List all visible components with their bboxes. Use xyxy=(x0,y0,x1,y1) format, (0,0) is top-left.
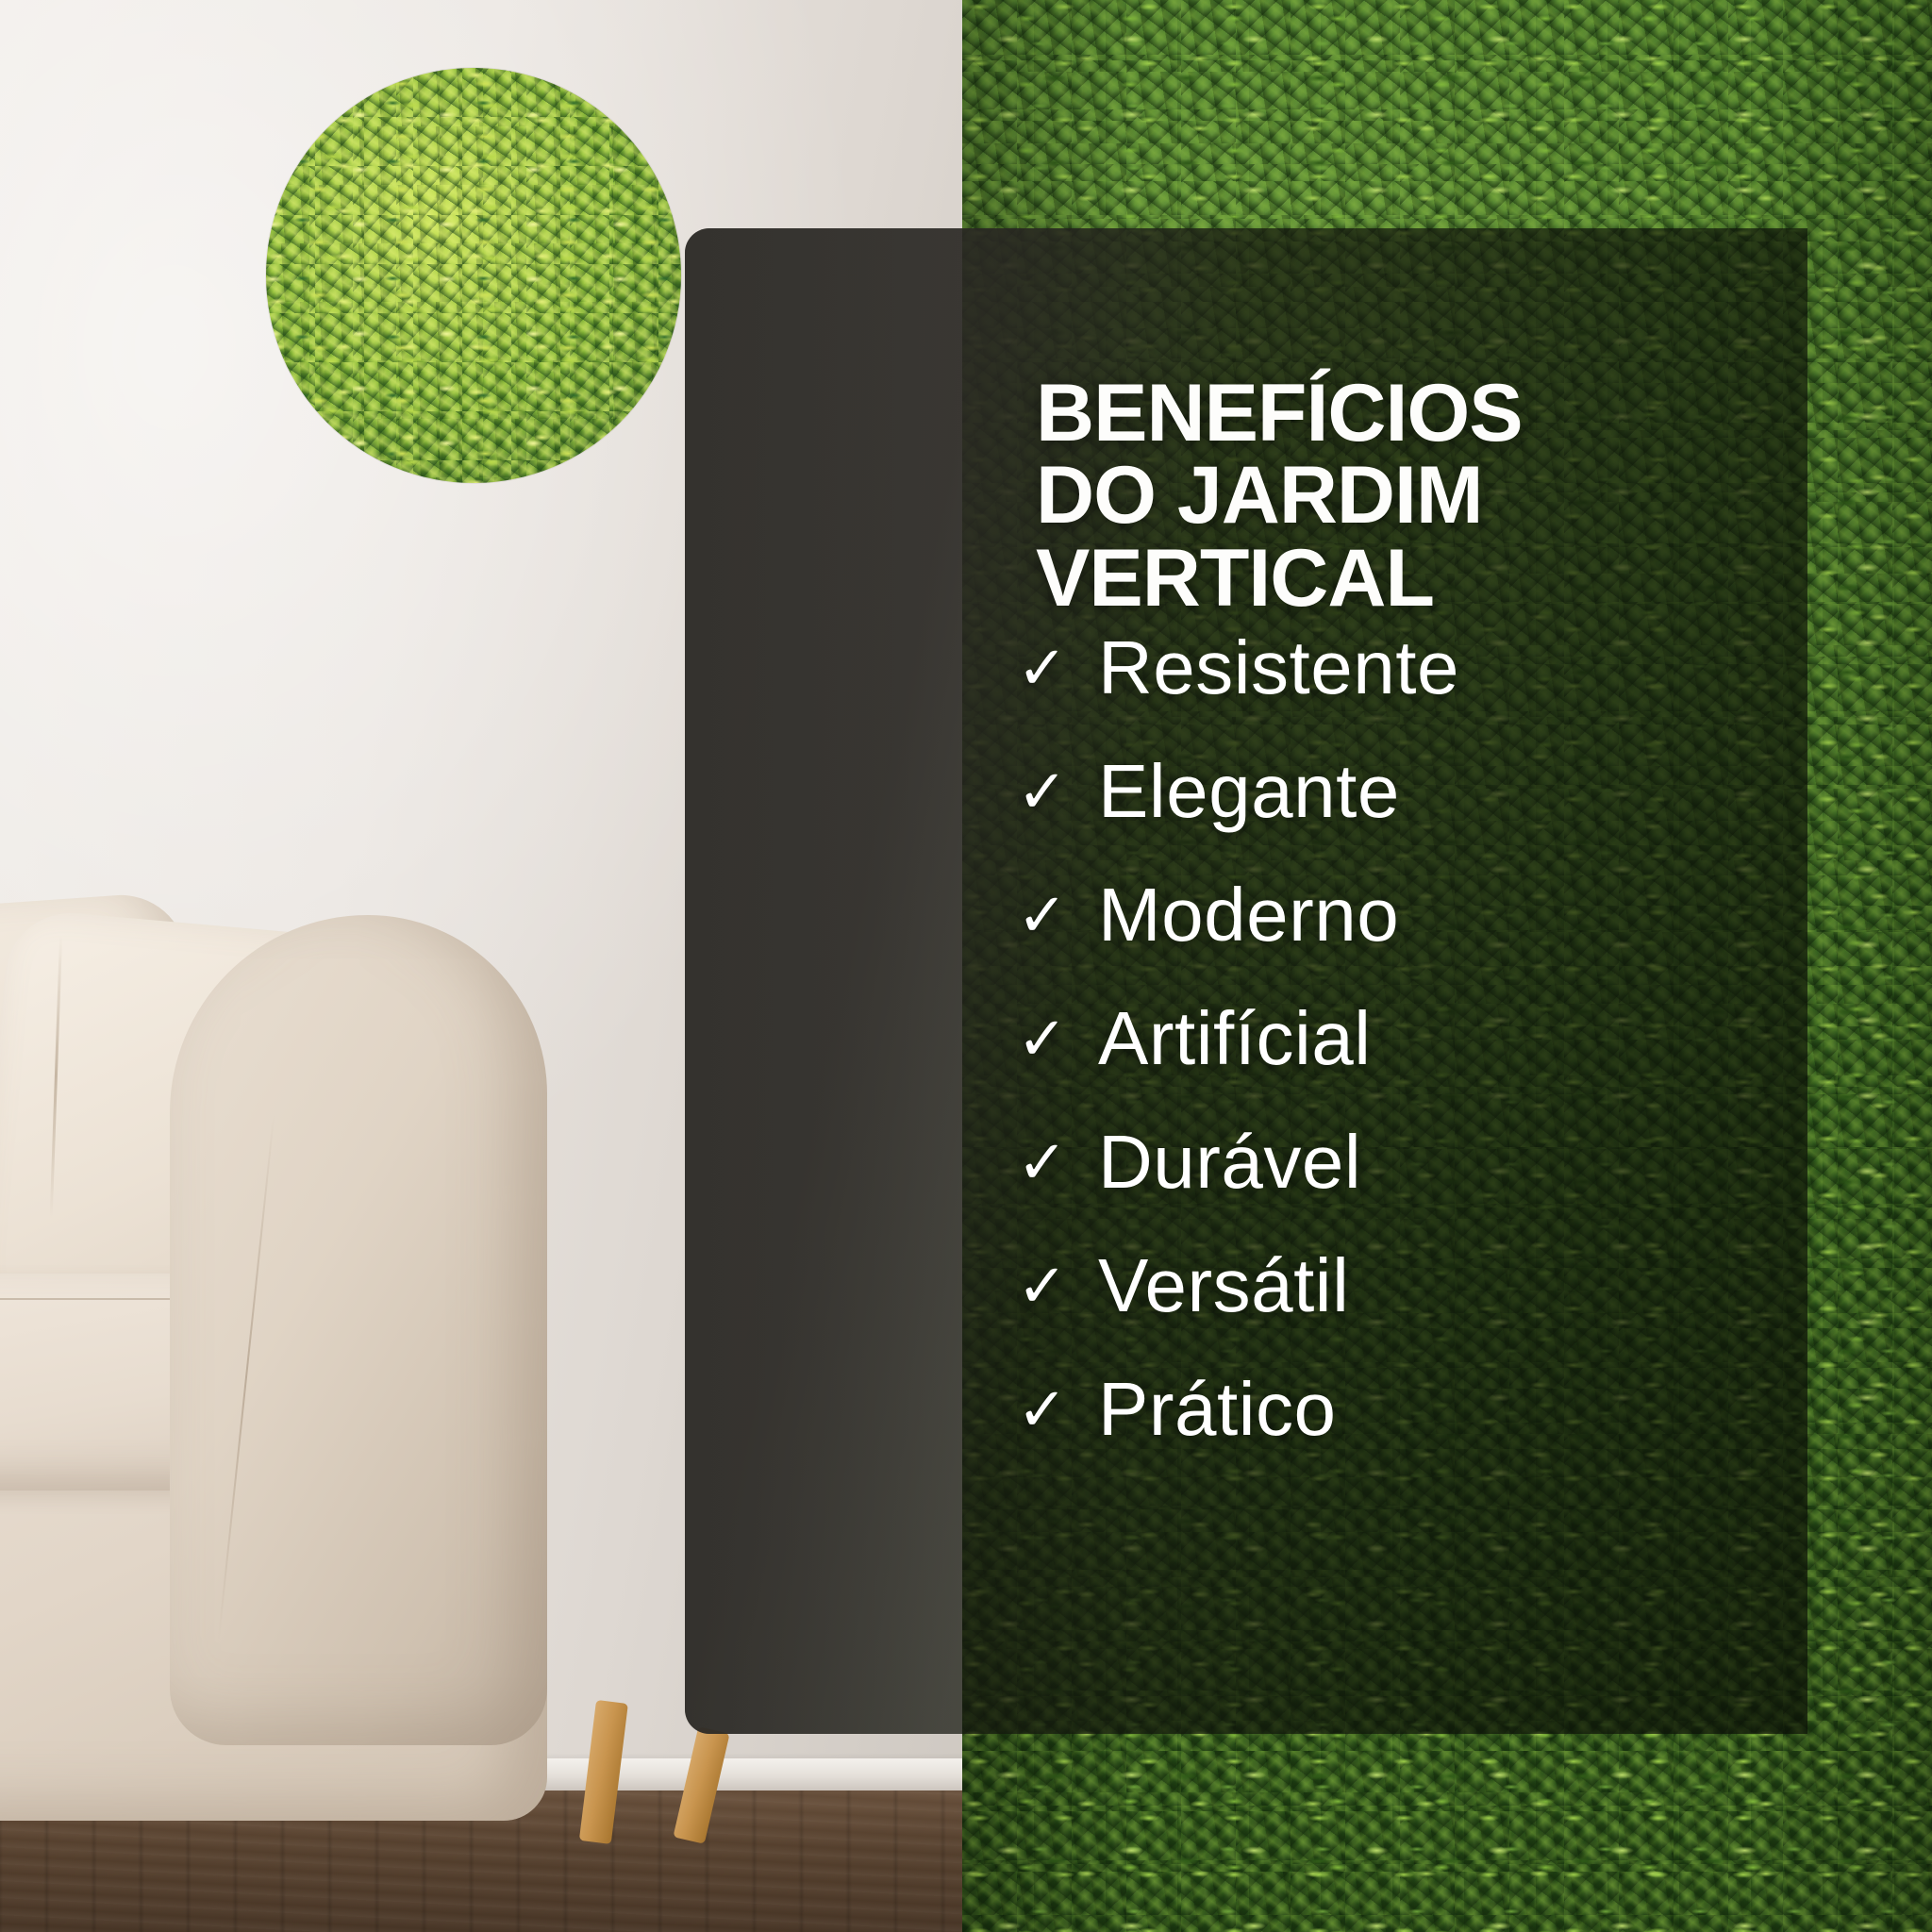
fern-foliage-circle-inset xyxy=(266,68,681,483)
check-icon: ✓ xyxy=(1006,1379,1098,1440)
list-item: ✓ Versátil xyxy=(1006,1224,1779,1347)
benefit-label: Versátil xyxy=(1098,1248,1349,1324)
benefit-label: Resistente xyxy=(1098,630,1459,706)
benefit-label: Durável xyxy=(1098,1124,1361,1200)
check-icon: ✓ xyxy=(1006,1256,1098,1316)
list-item: ✓ Prático xyxy=(1006,1347,1779,1471)
beige-sofa xyxy=(0,896,585,1821)
benefit-label: Elegante xyxy=(1098,754,1400,829)
sofa-armrest xyxy=(170,915,547,1745)
check-icon: ✓ xyxy=(1006,761,1098,822)
poster-canvas: BENEFÍCIOS DO JARDIM VERTICAL ✓ Resisten… xyxy=(0,0,1932,1932)
benefit-label: Moderno xyxy=(1098,877,1399,953)
overlay-panel-left-gradient xyxy=(685,228,968,1734)
benefit-label: Prático xyxy=(1098,1372,1336,1447)
title-line-2: DO JARDIM xyxy=(1036,455,1762,538)
title-line-1: BENEFÍCIOS xyxy=(1036,373,1762,456)
benefits-list: ✓ Resistente ✓ Elegante ✓ Moderno ✓ Arti… xyxy=(1006,606,1779,1471)
check-icon: ✓ xyxy=(1006,638,1098,698)
list-item: ✓ Resistente xyxy=(1006,606,1779,729)
poster-content: BENEFÍCIOS DO JARDIM VERTICAL ✓ Resisten… xyxy=(962,228,1807,1734)
benefit-label: Artifícial xyxy=(1098,1001,1372,1076)
page-title: BENEFÍCIOS DO JARDIM VERTICAL xyxy=(1036,373,1762,621)
check-icon: ✓ xyxy=(1006,1132,1098,1192)
list-item: ✓ Artifícial xyxy=(1006,976,1779,1100)
check-icon: ✓ xyxy=(1006,885,1098,945)
list-item: ✓ Elegante xyxy=(1006,729,1779,853)
check-icon: ✓ xyxy=(1006,1008,1098,1069)
list-item: ✓ Durável xyxy=(1006,1100,1779,1224)
list-item: ✓ Moderno xyxy=(1006,853,1779,976)
